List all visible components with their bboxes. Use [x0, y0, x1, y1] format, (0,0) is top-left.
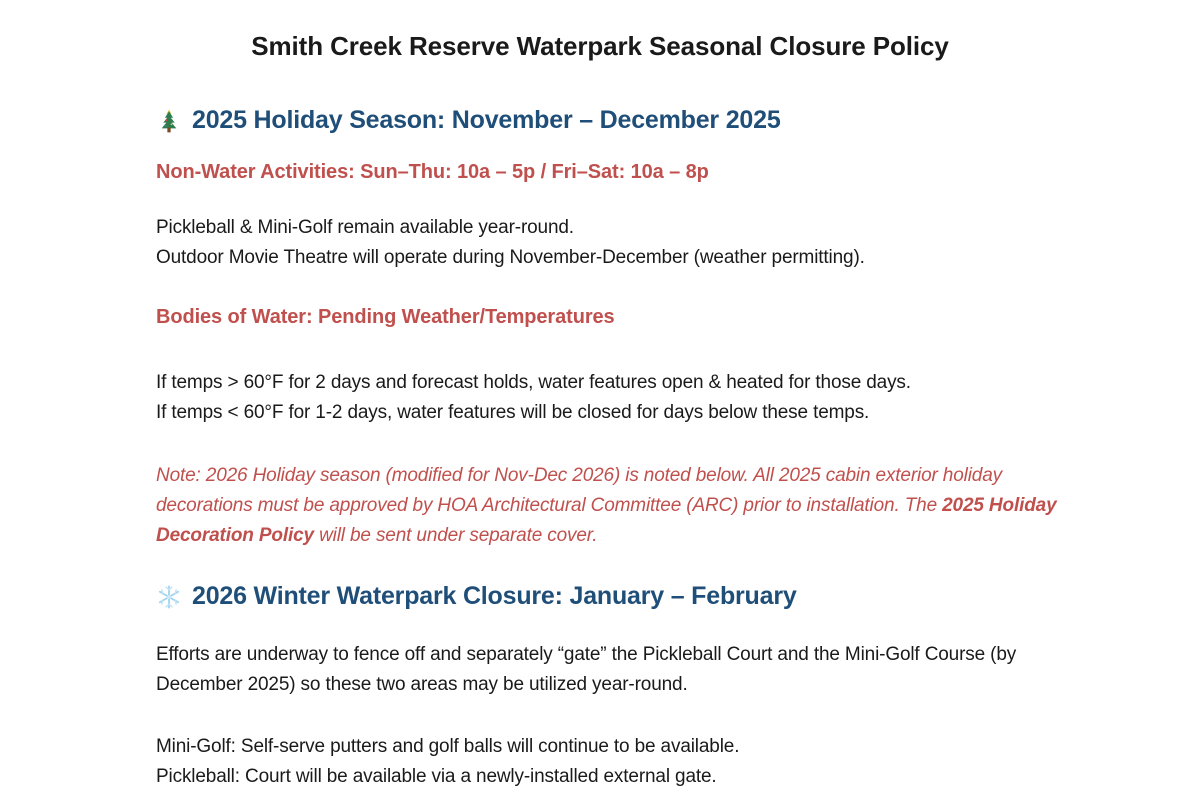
winter-closure-paragraph: Efforts are underway to fence off and se…: [156, 640, 1086, 700]
section-heading-label: 2026 Winter Waterpark Closure: January –…: [192, 581, 797, 611]
note-text-before: Note: 2026 Holiday season (modified for …: [156, 465, 1002, 516]
note-text-after: will be sent under separate cover.: [314, 525, 597, 546]
page-title: Smith Creek Reserve Waterpark Seasonal C…: [0, 0, 1200, 63]
non-water-activities-line-2: Outdoor Movie Theatre will operate durin…: [156, 243, 1110, 273]
temperature-rule-line-2: If temps < 60°F for 1-2 days, water feat…: [156, 398, 1110, 428]
section-heading-winter-2026: 2026 Winter Waterpark Closure: January –…: [156, 581, 1110, 611]
mini-golf-availability-line: Mini-Golf: Self-serve putters and golf b…: [156, 732, 1110, 762]
christmas-tree-icon: [156, 108, 182, 134]
non-water-activities-heading: Non-Water Activities: Sun–Thu: 10a – 5p …: [156, 160, 1110, 185]
non-water-activities-line-1: Pickleball & Mini-Golf remain available …: [156, 213, 1110, 243]
section-heading-label: 2025 Holiday Season: November – December…: [192, 105, 781, 135]
snowflake-icon: [156, 584, 182, 610]
holiday-decoration-note: Note: 2026 Holiday season (modified for …: [156, 461, 1101, 551]
bodies-of-water-heading: Bodies of Water: Pending Weather/Tempera…: [156, 305, 1110, 330]
pickleball-availability-line: Pickleball: Court will be available via …: [156, 762, 1110, 792]
temperature-rule-line-1: If temps > 60°F for 2 days and forecast …: [156, 368, 1110, 398]
section-heading-holiday-2025: 2025 Holiday Season: November – December…: [156, 105, 1110, 135]
document-body: 2025 Holiday Season: November – December…: [0, 105, 1200, 792]
document-page: Smith Creek Reserve Waterpark Seasonal C…: [0, 0, 1200, 799]
